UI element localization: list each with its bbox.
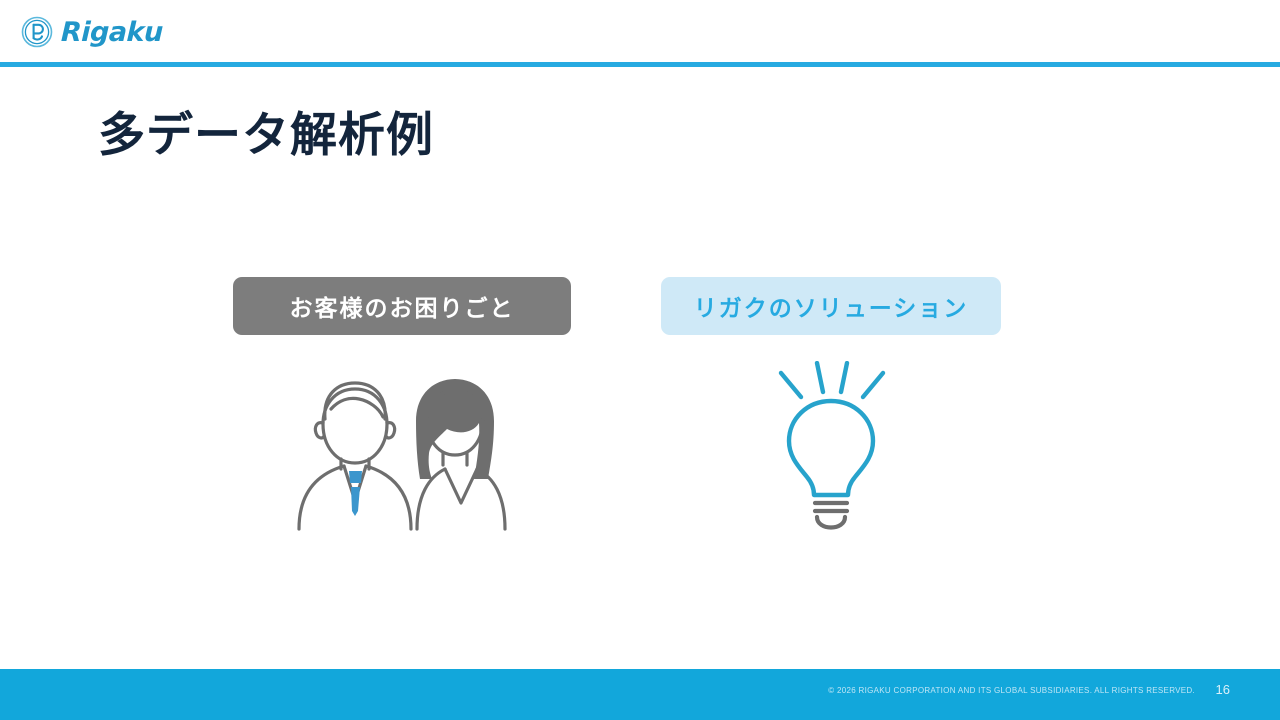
- footer-page-number: 16: [1216, 682, 1230, 697]
- rigaku-wordmark: Rigaku: [61, 19, 164, 46]
- illustration-problem: [233, 361, 571, 541]
- slide-header: Rigaku: [0, 0, 1280, 62]
- header-accent-rule: [0, 62, 1280, 67]
- two-people-customers-icon: [287, 361, 517, 536]
- lightbulb-idea-icon: [761, 361, 901, 536]
- rigaku-circle-emblem-icon: [20, 15, 54, 49]
- page-title: 多データ解析例: [98, 108, 434, 162]
- column-solution: リガクのソリューション: [661, 277, 1001, 541]
- footer-copyright: © 2026 RIGAKU CORPORATION AND ITS GLOBAL…: [828, 686, 1195, 695]
- illustration-solution: [661, 361, 1001, 541]
- column-problem: お客様のお困りごと: [233, 277, 571, 541]
- rigaku-logo[interactable]: Rigaku: [20, 15, 163, 49]
- slide: Rigaku 多データ解析例 お客様のお困りごと: [0, 0, 1280, 720]
- label-box-solution: リガクのソリューション: [661, 277, 1001, 335]
- slide-footer: © 2026 RIGAKU CORPORATION AND ITS GLOBAL…: [0, 669, 1280, 720]
- label-box-problem: お客様のお困りごと: [233, 277, 571, 335]
